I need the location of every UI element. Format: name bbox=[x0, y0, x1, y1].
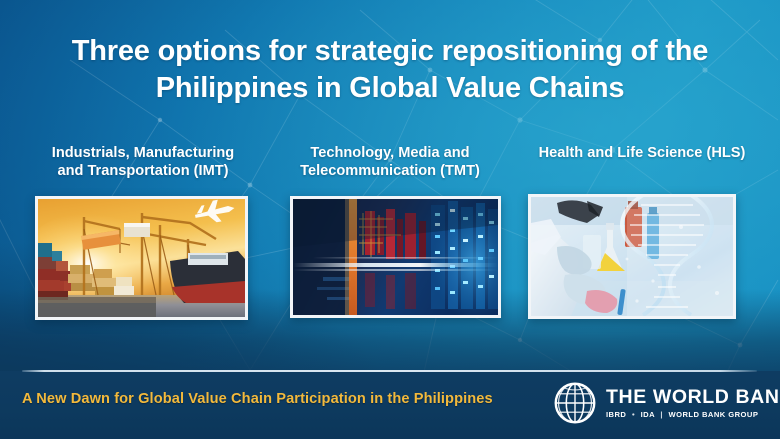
world-bank-globe-icon bbox=[553, 381, 597, 425]
port-shipping-crane-photo bbox=[35, 196, 248, 320]
world-bank-logo: THE WORLD BANK IBRD • IDA | WORLD BANK G… bbox=[553, 381, 780, 425]
column-heading-hls-line-1: Health and Life Science (HLS) bbox=[508, 145, 776, 163]
column-heading-tmt-line-1: Technology, Media and bbox=[272, 145, 508, 163]
column-heading-imt-line-2: and Transportation (IMT) bbox=[16, 163, 270, 181]
world-bank-name: THE WORLD BANK bbox=[606, 388, 780, 408]
logo-group-label: WORLD BANK GROUP bbox=[668, 410, 758, 419]
circuit-board-data-photo bbox=[290, 196, 501, 318]
footer-report-title: A New Dawn for Global Value Chain Partic… bbox=[22, 391, 493, 407]
logo-bar-separator: | bbox=[657, 411, 666, 419]
world-bank-subtitle: IBRD • IDA | WORLD BANK GROUP bbox=[606, 411, 780, 419]
logo-ida-label: IDA bbox=[641, 410, 655, 419]
logo-dot-separator: • bbox=[629, 411, 638, 419]
presentation-slide: Three options for strategic repositionin… bbox=[0, 0, 780, 439]
column-heading-hls: Health and Life Science (HLS) bbox=[508, 145, 776, 163]
column-heading-imt-line-1: Industrials, Manufacturing bbox=[16, 145, 270, 163]
column-heading-tmt: Technology, Media and Telecommunication … bbox=[272, 145, 508, 181]
world-bank-wordmark: THE WORLD BANK IBRD • IDA | WORLD BANK G… bbox=[606, 388, 780, 418]
laboratory-dna-photo bbox=[528, 194, 736, 319]
logo-ibrd-label: IBRD bbox=[606, 410, 626, 419]
column-heading-imt: Industrials, Manufacturing and Transport… bbox=[16, 145, 270, 181]
column-heading-tmt-line-2: Telecommunication (TMT) bbox=[272, 163, 508, 181]
footer-divider-rule bbox=[22, 370, 757, 372]
